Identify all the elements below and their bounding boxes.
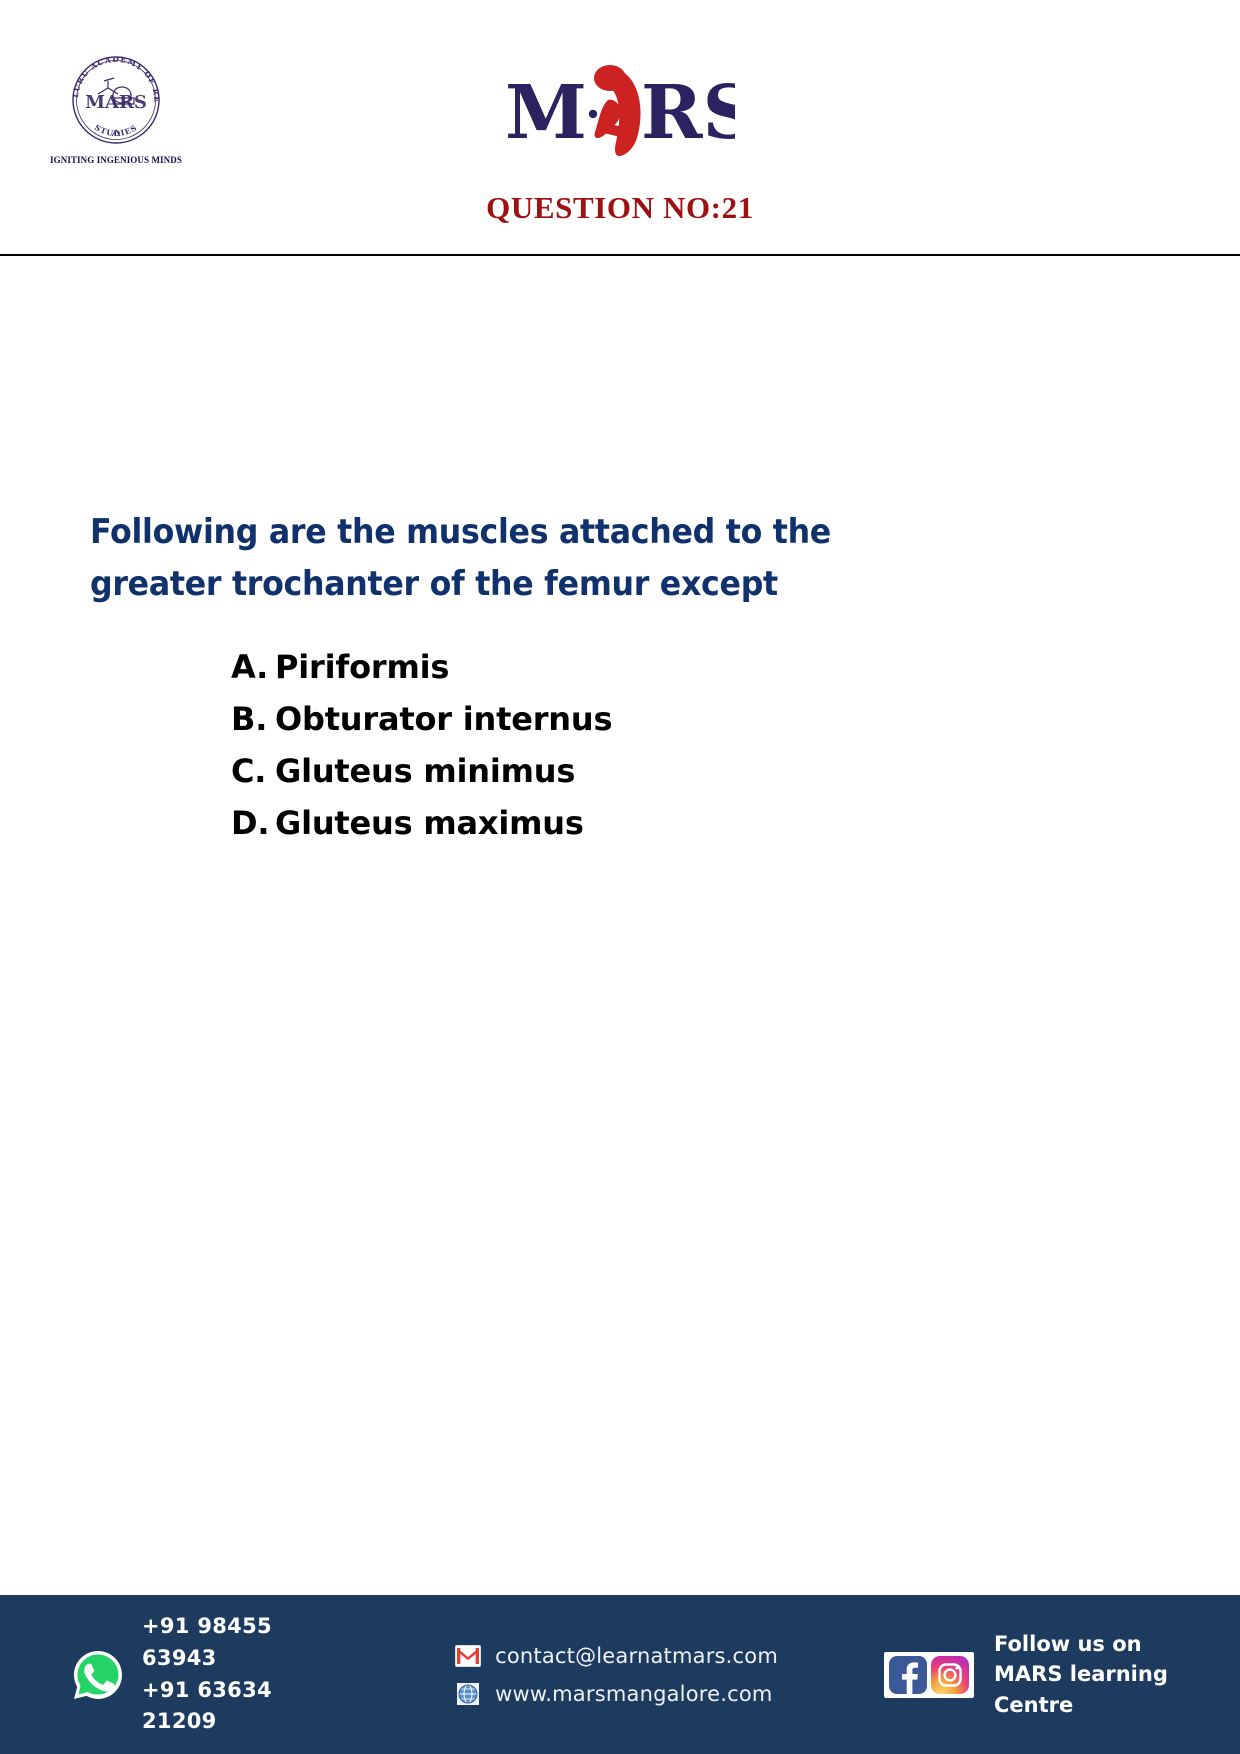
option-b[interactable]: B. Obturator internus xyxy=(231,693,991,745)
option-a[interactable]: A. Piriformis xyxy=(231,641,991,693)
website-row[interactable]: www.marsmangalore.com xyxy=(455,1682,778,1706)
option-d[interactable]: D. Gluteus maximus xyxy=(231,797,991,849)
social-follow-line2: MARS learning Centre xyxy=(994,1659,1240,1720)
option-d-letter: D. xyxy=(231,797,275,849)
footer-contact-web: contact@learnatmars.com www.marsmangalor… xyxy=(455,1644,778,1706)
website-url[interactable]: www.marsmangalore.com xyxy=(495,1682,773,1706)
email-row[interactable]: contact@learnatmars.com xyxy=(455,1644,778,1668)
page-header: MANGALURU ACADEMY OF REFINED STUDIES MAR… xyxy=(0,0,1240,255)
svg-text:RS: RS xyxy=(641,70,735,156)
question-body: Following are the muscles attached to th… xyxy=(0,255,1240,1595)
whatsapp-icon[interactable] xyxy=(72,1649,124,1701)
option-c[interactable]: C. Gluteus minimus xyxy=(231,745,991,797)
option-b-text: Obturator internus xyxy=(275,693,991,745)
gmail-icon xyxy=(455,1645,481,1667)
options-list: A. Piriformis B. Obturator internus C. G… xyxy=(231,641,991,850)
social-follow-line1: Follow us on xyxy=(994,1629,1240,1659)
option-c-letter: C. xyxy=(231,745,275,797)
option-c-text: Gluteus minimus xyxy=(275,745,991,797)
phone-number-1[interactable]: +91 98455 63943 xyxy=(142,1611,343,1675)
phone-number-2[interactable]: +91 63634 21209 xyxy=(142,1675,343,1739)
option-a-letter: A. xyxy=(231,641,275,693)
runner-figure-icon xyxy=(594,65,641,156)
globe-icon xyxy=(455,1683,481,1705)
page-footer: +91 98455 63943 +91 63634 21209 contact@… xyxy=(0,1595,1240,1754)
question-number-title: QUESTION NO:21 xyxy=(0,190,1240,226)
mars-wordmark-logo: M RS xyxy=(0,52,1240,160)
question-text: Following are the muscles attached to th… xyxy=(90,507,908,610)
facebook-icon[interactable] xyxy=(889,1656,927,1694)
social-icons-tile xyxy=(884,1652,974,1698)
option-d-text: Gluteus maximus xyxy=(275,797,991,849)
option-a-text: Piriformis xyxy=(275,641,991,693)
footer-social: Follow us on MARS learning Centre xyxy=(884,1629,1240,1720)
instagram-icon[interactable] xyxy=(931,1656,969,1694)
option-b-letter: B. xyxy=(231,693,275,745)
email-address[interactable]: contact@learnatmars.com xyxy=(495,1644,778,1668)
svg-text:M: M xyxy=(505,70,587,156)
footer-contact-phones: +91 98455 63943 +91 63634 21209 xyxy=(72,1611,343,1739)
